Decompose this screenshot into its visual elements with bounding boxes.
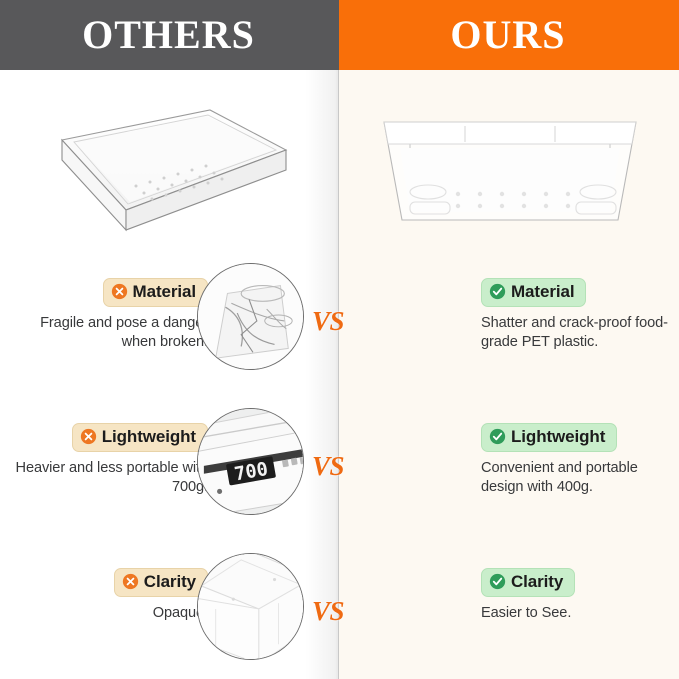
material-others-text: Material Fragile and pose a danger when …: [8, 278, 208, 352]
comparison-infographic: OTHERS OURS: [0, 0, 679, 679]
lightweight-others-badge: Lightweight: [72, 423, 208, 452]
clarity-others-badge-label: Clarity: [144, 572, 196, 592]
x-circle-icon: [80, 428, 97, 445]
clarity-others-text: Clarity Opaque.: [8, 568, 208, 623]
lightweight-others-desc: Heavier and less portable with 700g.: [8, 459, 208, 498]
check-circle-icon: [489, 283, 506, 300]
material-ours: Material Shatter and crack-proof food-gr…: [339, 252, 679, 382]
material-ours-badge-label: Material: [511, 282, 574, 302]
material-ours-badge: Material: [481, 278, 586, 307]
lightweight-others-thumbnail: 700: [197, 408, 304, 515]
material-others: Material Fragile and pose a danger when …: [0, 252, 339, 382]
lightweight-ours-text: Lightweight Convenient and portable desi…: [481, 423, 677, 497]
versus-separator-2: VS: [312, 451, 344, 482]
header-bar: OTHERS OURS: [0, 0, 679, 70]
versus-separator-1: VS: [312, 306, 344, 337]
clarity-others-thumbnail: [197, 553, 304, 660]
header-ours-panel: OURS: [339, 0, 679, 70]
lightweight-ours-desc: Convenient and portable design with 400g…: [481, 459, 677, 498]
clarity-ours-text: Clarity Easier to See.: [481, 568, 677, 623]
check-circle-icon: [489, 428, 506, 445]
x-circle-icon: [111, 283, 128, 300]
lightweight-ours-badge-label: Lightweight: [511, 427, 605, 447]
material-ours-desc: Shatter and crack-proof food-grade PET p…: [481, 314, 677, 353]
clarity-ours-badge: Clarity: [481, 568, 575, 597]
clarity-others: Clarity Opaque.: [0, 542, 339, 672]
feature-row-lightweight: Lightweight Heavier and less portable wi…: [0, 397, 679, 527]
header-others-title: OTHERS: [82, 15, 255, 55]
feature-row-clarity: Clarity Opaque.: [0, 542, 679, 672]
header-ours-title: OURS: [450, 15, 565, 55]
lightweight-others-badge-label: Lightweight: [102, 427, 196, 447]
clarity-ours-desc: Easier to See.: [481, 604, 677, 623]
ours-hero-image: [370, 98, 650, 238]
clarity-others-badge: Clarity: [114, 568, 208, 597]
x-circle-icon: [122, 573, 139, 590]
lightweight-ours: 400: [339, 397, 679, 527]
lightweight-others: Lightweight Heavier and less portable wi…: [0, 397, 339, 527]
material-others-badge: Material: [103, 278, 208, 307]
material-others-thumbnail: [197, 263, 304, 370]
clarity-ours: Clarity Easier to See.: [339, 542, 679, 672]
material-ours-text: Material Shatter and crack-proof food-gr…: [481, 278, 677, 352]
lightweight-ours-badge: Lightweight: [481, 423, 617, 452]
feature-row-material: Material Fragile and pose a danger when …: [0, 252, 679, 382]
check-circle-icon: [489, 573, 506, 590]
versus-separator-3: VS: [312, 596, 344, 627]
lightweight-others-text: Lightweight Heavier and less portable wi…: [8, 423, 208, 497]
clarity-others-desc: Opaque.: [8, 604, 208, 623]
header-others-panel: OTHERS: [0, 0, 339, 70]
material-others-badge-label: Material: [133, 282, 196, 302]
clarity-ours-badge-label: Clarity: [511, 572, 563, 592]
others-hero-image: [40, 98, 300, 238]
material-others-desc: Fragile and pose a danger when broken.: [8, 314, 208, 353]
